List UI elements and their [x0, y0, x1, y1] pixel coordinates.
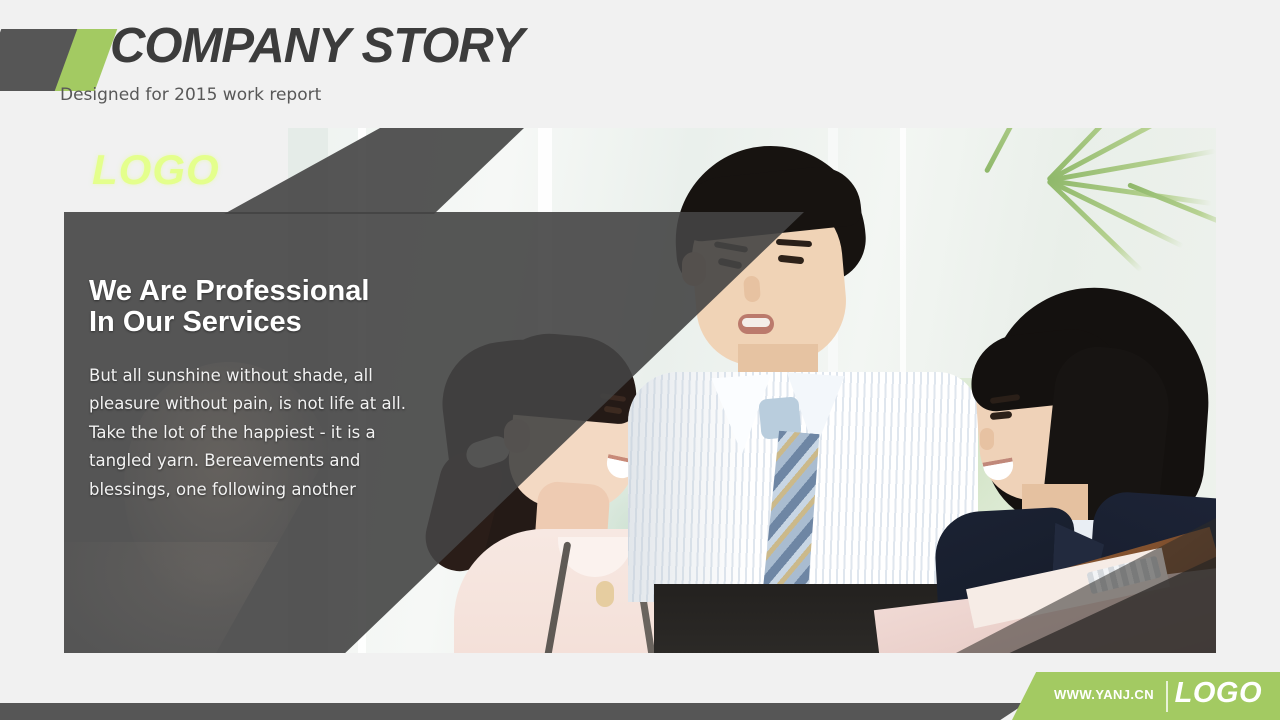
footer-dark-bar	[0, 703, 1026, 720]
page-title: COMPANY STORY	[110, 22, 524, 71]
panel-heading-line1: We Are Professional	[89, 276, 509, 307]
nose	[743, 275, 761, 302]
panel-body-text: But all sunshine without shade, all plea…	[89, 362, 439, 504]
footer-website-url: WWW.YANJ.CN	[1054, 687, 1154, 702]
necklace-pendant	[596, 581, 614, 607]
slide-header: COMPANY STORY Designed for 2015 work rep…	[0, 0, 1280, 128]
nose	[980, 428, 994, 450]
footer-logo-text: LOGO	[1175, 677, 1262, 710]
panel-heading-line2: In Our Services	[89, 307, 509, 338]
teeth	[742, 318, 770, 327]
slide-canvas: COMPANY STORY Designed for 2015 work rep…	[0, 0, 1280, 720]
plant-frond	[1127, 182, 1216, 228]
brand-logo-text: LOGO	[92, 146, 220, 194]
panel-heading: We Are Professional In Our Services	[89, 276, 509, 339]
footer-divider	[1166, 681, 1168, 712]
page-subtitle: Designed for 2015 work report	[60, 85, 321, 105]
